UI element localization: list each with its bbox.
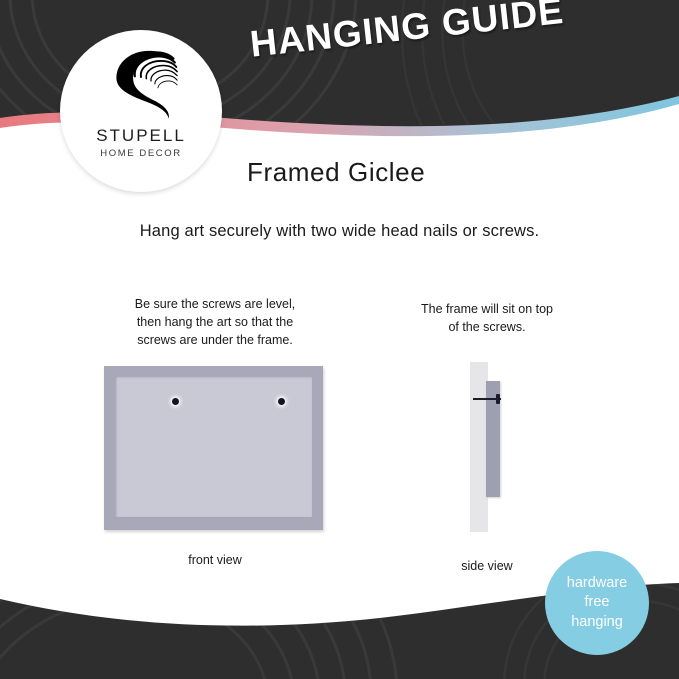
screw-dot-right-icon <box>278 398 285 405</box>
front-caption-line-3: screws are under the frame. <box>95 331 335 349</box>
screw-dot-left-icon <box>172 398 179 405</box>
side-caption-line-2: of the screws. <box>387 318 587 336</box>
side-view-screw-head-icon <box>496 394 500 404</box>
brand-name: STUPELL <box>96 127 186 144</box>
brand-logo-badge: STUPELL HOME DECOR <box>60 30 222 192</box>
badge-line-2: free <box>585 593 610 612</box>
front-view-frame-mat <box>115 376 312 517</box>
side-caption-line-1: The frame will sit on top <box>387 300 587 318</box>
intro-instruction: Hang art securely with two wide head nai… <box>0 222 679 241</box>
badge-line-3: hanging <box>571 613 623 632</box>
hanging-guide-page: HANGING GUIDE STUPELL HOME DECOR Framed … <box>0 0 679 679</box>
hardware-free-hanging-badge: hardware free hanging <box>545 551 649 655</box>
front-view-diagram <box>104 366 323 530</box>
badge-line-1: hardware <box>567 574 627 593</box>
product-type-title: Framed Giclee <box>247 157 425 188</box>
front-view-label: front view <box>95 553 335 567</box>
front-caption-line-2: then hang the art so that the <box>95 313 335 331</box>
front-view-caption: Be sure the screws are level, then hang … <box>95 295 335 349</box>
side-view-caption: The frame will sit on top of the screws. <box>387 300 587 336</box>
stupell-swoosh-logo-icon <box>102 44 180 124</box>
brand-tagline: HOME DECOR <box>100 149 181 159</box>
side-view-diagram <box>460 362 520 532</box>
front-caption-line-1: Be sure the screws are level, <box>95 295 335 313</box>
